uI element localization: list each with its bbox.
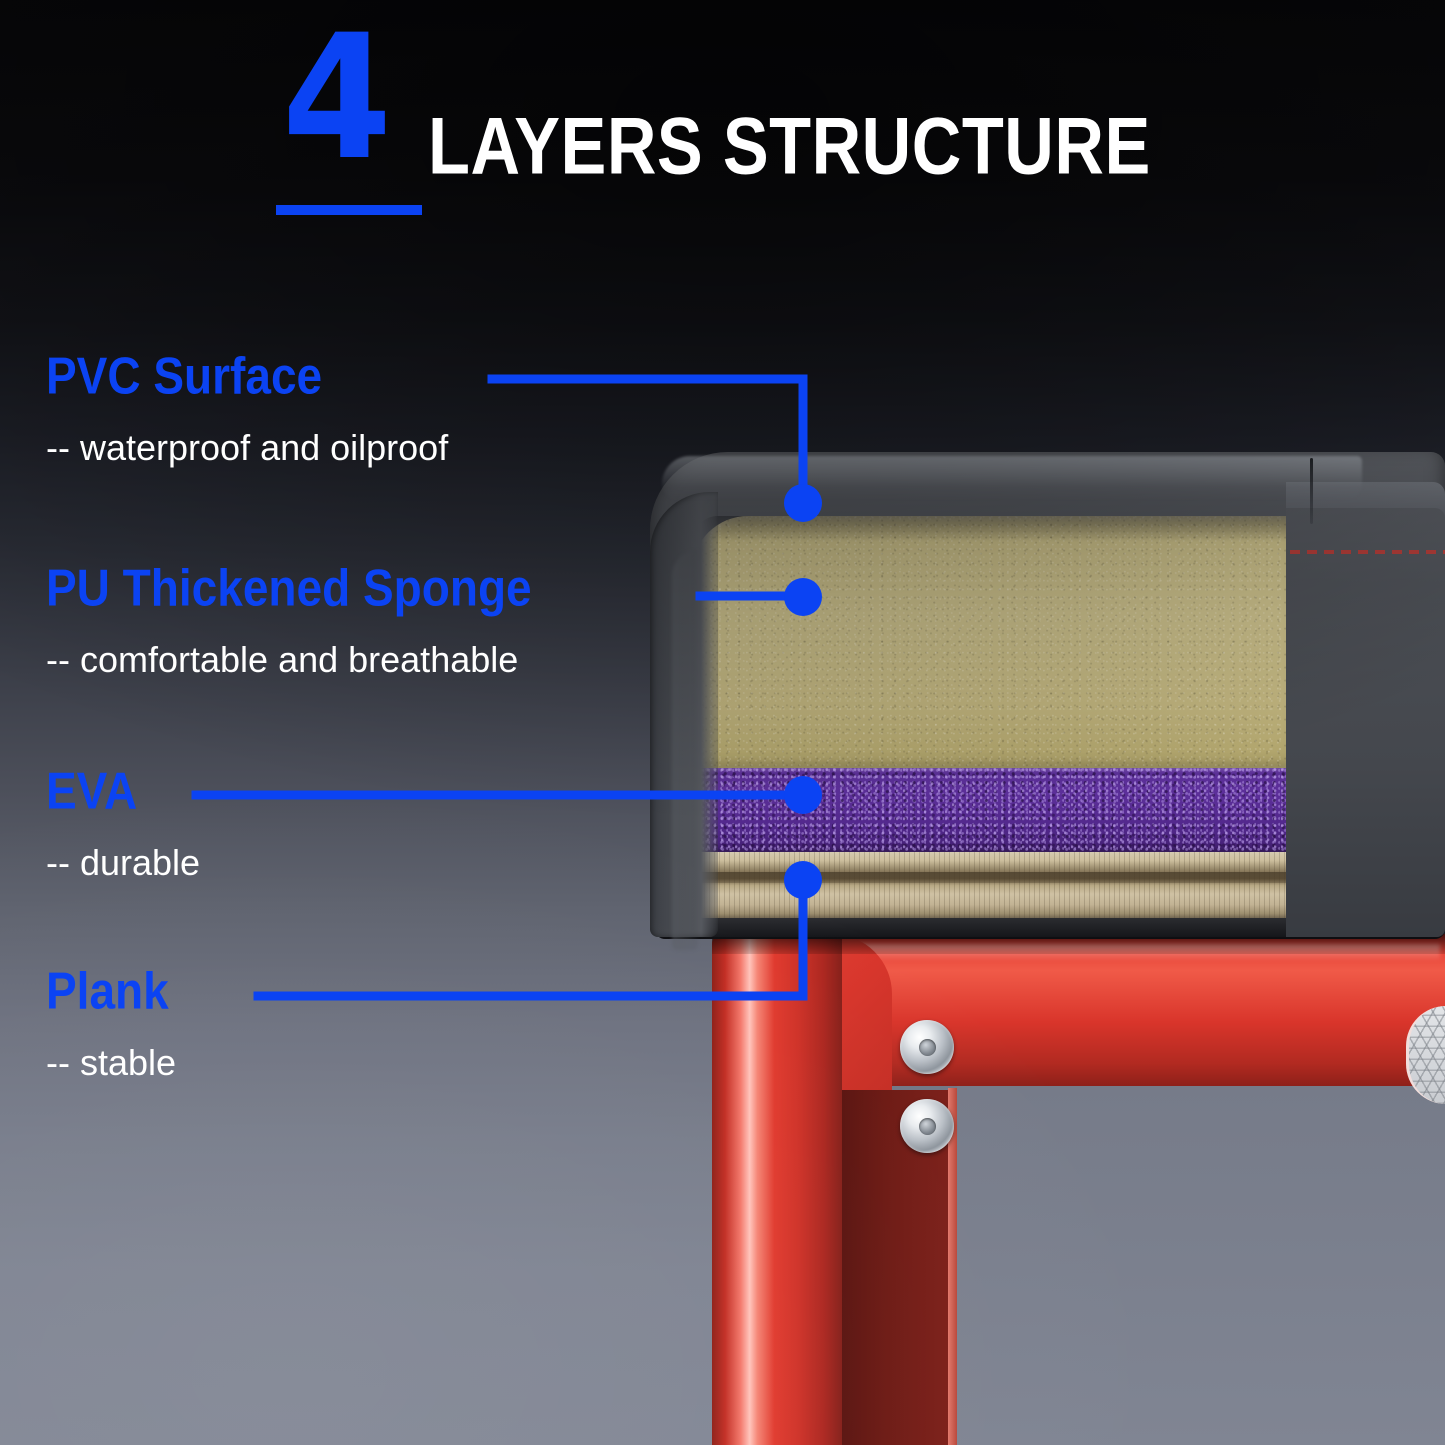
- leader-line-pvc: [492, 379, 803, 500]
- page-title: LAYERS STRUCTURE: [428, 105, 1151, 186]
- frame-open-window: [957, 1086, 1445, 1445]
- red-stitching: [1290, 550, 1445, 554]
- cushion-underside: [655, 905, 1445, 939]
- callout-eva-benefit: -- durable: [46, 845, 200, 881]
- plank-core-band: [684, 872, 1296, 883]
- page-header: 4 LAYERS STRUCTURE: [0, 0, 1445, 250]
- callout-plank-title: Plank: [46, 965, 176, 1017]
- leader-line-plank: [258, 883, 803, 996]
- callout-pvc: PVC Surface -- waterproof and oilproof: [46, 350, 448, 466]
- eva-layer: [686, 768, 1294, 852]
- frame-left-leg: [712, 934, 842, 1445]
- callout-sponge-benefit: -- comfortable and breathable: [46, 642, 532, 678]
- frame-leg-inner-edge: [948, 1088, 957, 1445]
- pvc-top-seam: [1310, 458, 1313, 524]
- infographic-canvas: 4 LAYERS STRUCTURE PVC Surface -- waterp…: [0, 0, 1445, 1445]
- sponge-top-shadow: [692, 516, 1292, 542]
- callout-eva: EVA -- durable: [46, 765, 200, 881]
- frame-top-rail: [712, 934, 1445, 1086]
- layer-count-numeral: 4: [282, 12, 387, 184]
- leader-dot-plank: [784, 861, 822, 899]
- callout-plank: Plank -- stable: [46, 965, 176, 1081]
- frame-leg-inner-face: [842, 1090, 952, 1445]
- leader-dot-sponge: [784, 578, 822, 616]
- title-underline-rule: [276, 205, 422, 215]
- callout-sponge-title: PU Thickened Sponge: [46, 562, 532, 614]
- pvc-left-wrap-highlight: [672, 550, 698, 950]
- leader-dot-eva: [784, 776, 822, 814]
- cushion-drop-shadow: [712, 928, 1445, 954]
- hex-bolt-upper: [900, 1020, 954, 1074]
- eva-texture: [686, 768, 1294, 852]
- pvc-right-face-panel: [1286, 508, 1445, 937]
- callout-sponge: PU Thickened Sponge -- comfortable and b…: [46, 562, 532, 678]
- plank-wood-grain: [684, 852, 1296, 922]
- leader-dot-pvc: [784, 484, 822, 522]
- callout-pvc-title: PVC Surface: [46, 350, 448, 402]
- pu-sponge-layer: [692, 516, 1292, 768]
- pvc-top-highlight: [662, 456, 1362, 500]
- frame-rail-gloss: [760, 944, 1440, 960]
- hex-bolt-lower: [900, 1099, 954, 1153]
- pvc-left-wrap-edge: [650, 492, 718, 937]
- sponge-texture: [692, 516, 1292, 768]
- frame-corner-bracket: [712, 934, 892, 1164]
- pvc-outer-shell: [650, 452, 1445, 937]
- callout-eva-title: EVA: [46, 765, 200, 817]
- reflective-sticker: [1406, 1006, 1445, 1104]
- pvc-right-top-panel: [1286, 482, 1445, 520]
- callout-plank-benefit: -- stable: [46, 1045, 176, 1081]
- plank-base-shadow: [678, 918, 1298, 937]
- cushion-cross-section: [650, 452, 1445, 937]
- plywood-plank-layer: [684, 852, 1296, 922]
- callout-pvc-benefit: -- waterproof and oilproof: [46, 430, 448, 466]
